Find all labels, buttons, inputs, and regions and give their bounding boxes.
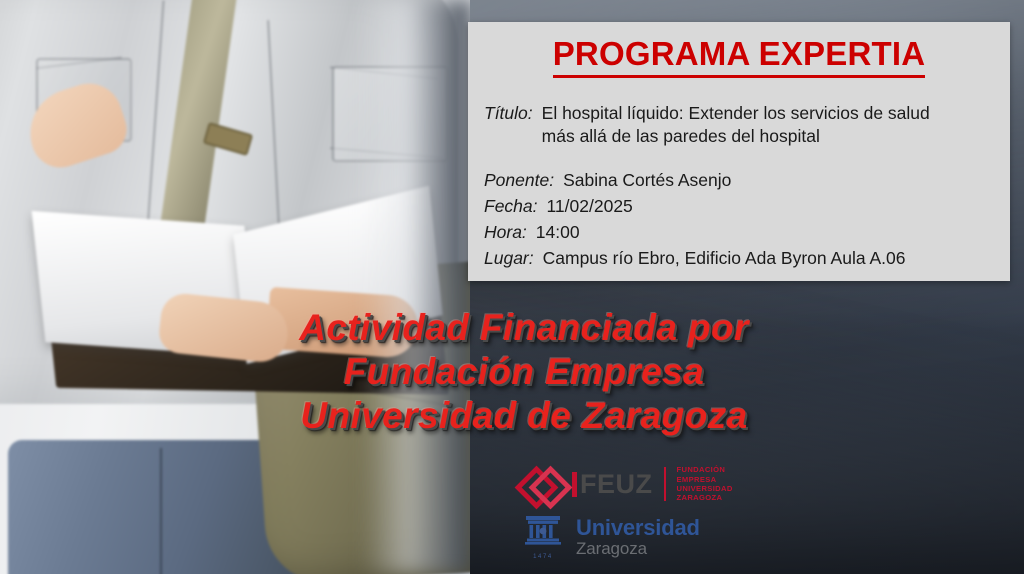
jeans-seam xyxy=(160,448,162,574)
feuz-subtitle-line2: EMPRESA xyxy=(677,475,733,484)
unizar-name: Universidad xyxy=(576,517,700,539)
unizar-wordmark: Universidad Zaragoza xyxy=(576,517,700,558)
event-details-list: Título: El hospital líquido: Extender lo… xyxy=(484,102,1010,270)
feuz-subtitle: FUNDACIÓN EMPRESA UNIVERSIDAD ZARAGOZA xyxy=(677,465,733,503)
info-panel: PROGRAMA EXPERTIA Título: El hospital lí… xyxy=(468,22,1010,281)
detail-value-titulo: El hospital líquido: Extender los servic… xyxy=(533,102,930,148)
page-title: PROGRAMA EXPERTIA xyxy=(468,36,1010,72)
detail-label-lugar: Lugar: xyxy=(484,247,534,270)
detail-label-titulo: Título: xyxy=(484,102,533,125)
detail-label-fecha: Fecha: xyxy=(484,195,538,218)
detail-value-titulo-line2: más allá de las paredes del hospital xyxy=(542,125,930,148)
detail-value-fecha: 11/02/2025 xyxy=(538,195,633,218)
photo-right-edge-blend xyxy=(362,0,470,574)
student-reading-photo xyxy=(0,0,470,574)
detail-row-fecha: Fecha: 11/02/2025 xyxy=(484,195,1010,218)
detail-row-hora: Hora: 14:00 xyxy=(484,221,1010,244)
universidad-zaragoza-logo: 1474 Universidad Zaragoza xyxy=(520,514,820,560)
unizar-city: Zaragoza xyxy=(576,539,700,558)
feuz-divider xyxy=(664,467,666,501)
event-poster: PROGRAMA EXPERTIA Título: El hospital lí… xyxy=(0,0,1024,574)
unizar-building-svg xyxy=(523,514,563,548)
feuz-subtitle-line4: ZARAGOZA xyxy=(677,493,733,502)
detail-value-ponente: Sabina Cortés Asenjo xyxy=(554,169,731,192)
feuz-logo: FEUZ FUNDACIÓN EMPRESA UNIVERSIDAD ZARAG… xyxy=(520,462,820,506)
detail-value-hora: 14:00 xyxy=(527,221,580,244)
detail-value-lugar: Campus río Ebro, Edificio Ada Byron Aula… xyxy=(534,247,906,270)
feuz-accent-bar xyxy=(572,472,577,497)
detail-value-titulo-line1: El hospital líquido: Extender los servic… xyxy=(542,102,930,125)
feuz-subtitle-line1: FUNDACIÓN xyxy=(677,465,733,474)
detail-row-titulo: Título: El hospital líquido: Extender lo… xyxy=(484,102,1010,148)
page-title-text: PROGRAMA EXPERTIA xyxy=(553,35,926,78)
logo-group: FEUZ FUNDACIÓN EMPRESA UNIVERSIDAD ZARAG… xyxy=(520,462,820,560)
unizar-founding-year: 1474 xyxy=(520,554,566,560)
feuz-diamond-icon xyxy=(520,467,564,501)
unizar-building-icon: 1474 xyxy=(520,514,566,560)
feuz-subtitle-line3: UNIVERSIDAD xyxy=(677,484,733,493)
detail-row-ponente: Ponente: Sabina Cortés Asenjo xyxy=(484,169,1010,192)
detail-row-lugar: Lugar: Campus río Ebro, Edificio Ada Byr… xyxy=(484,247,1010,270)
feuz-wordmark: FEUZ xyxy=(580,469,653,500)
detail-label-ponente: Ponente: xyxy=(484,169,554,192)
detail-spacer xyxy=(484,148,1010,166)
detail-label-hora: Hora: xyxy=(484,221,527,244)
